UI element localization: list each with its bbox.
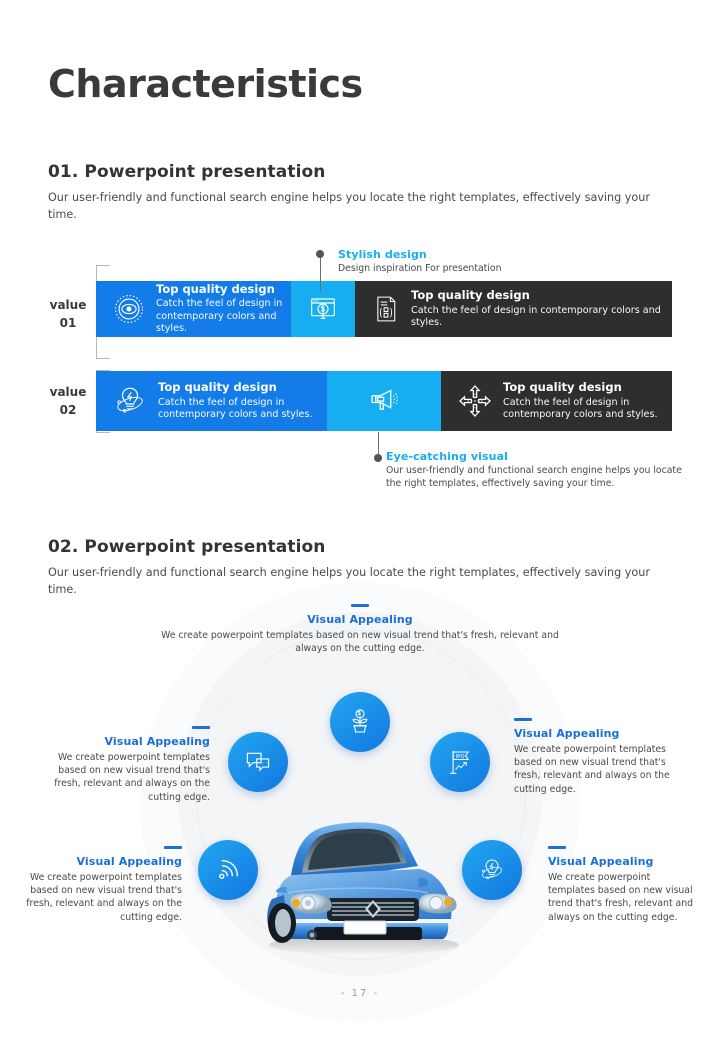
bar-segment-dark-1[interactable]: Top quality design Catch the feel of des… [355, 281, 672, 337]
bar-text-1-right: Top quality design Catch the feel of des… [411, 288, 672, 329]
page-title: Characteristics [48, 62, 363, 106]
callout-desc-bottom: Our user-friendly and functional search … [386, 465, 696, 490]
value-label-02-word: value [40, 383, 96, 401]
callout-dot-bottom [374, 454, 382, 462]
page-number: - 17 - [0, 988, 720, 999]
label-visual-appealing-bottom-left: Visual Appealing We create powerpoint te… [22, 846, 182, 924]
bar-segment-blue-2[interactable]: Top quality design Catch the feel of des… [96, 371, 327, 431]
bar-segment-cyan-1[interactable] [291, 281, 355, 337]
bar-text-1: Top quality design Catch the feel of des… [156, 282, 291, 336]
callout-desc-top: Design inspiration For presentation [338, 263, 668, 276]
bar-row-02: Top quality design Catch the feel of des… [96, 371, 672, 431]
callout-text-bottom: Eye-catching visual Our user-friendly an… [386, 450, 696, 490]
money-plant-icon [345, 707, 375, 737]
node-wifi-signal[interactable] [198, 840, 258, 900]
value-label-02: value 02 [40, 383, 96, 419]
node-chat-bubbles[interactable] [228, 732, 288, 792]
label-dash-left [192, 726, 210, 729]
callout-title-top: Stylish design [338, 248, 668, 261]
blue-car-photo [236, 795, 492, 955]
value-label-01-word: value [40, 296, 96, 314]
ipo-flag-icon: IPO [445, 747, 475, 777]
presentation-dollar-icon [307, 293, 339, 325]
bracket-top-1 [96, 265, 110, 267]
callout-stem-bottom [378, 432, 379, 454]
value-label-01: value 01 [40, 296, 96, 332]
slide-canvas: Characteristics 01. Powerpoint presentat… [0, 0, 720, 1040]
label-visual-appealing-bottom-right: Visual Appealing We create powerpoint te… [548, 846, 698, 924]
label-visual-appealing-right: Visual Appealing We create powerpoint te… [514, 718, 694, 796]
svg-text:IPO: IPO [456, 754, 465, 760]
label-title-right: Visual Appealing [514, 727, 694, 740]
label-title-bottom-left: Visual Appealing [22, 855, 182, 868]
callout-text-top: Stylish design Design inspiration For pr… [338, 248, 668, 276]
node-lightbulb-idea[interactable] [462, 840, 522, 900]
label-title-bottom-right: Visual Appealing [548, 855, 698, 868]
bar-title-1: Top quality design [156, 282, 291, 296]
value-label-01-number: 01 [40, 314, 96, 332]
label-desc-right: We create powerpoint templates based on … [514, 743, 694, 796]
wifi-signal-icon [213, 855, 243, 885]
lightbulb-idea-icon [112, 383, 148, 419]
node-ipo-flag[interactable]: IPO [430, 732, 490, 792]
bar-title-1-right: Top quality design [411, 288, 672, 302]
section-1-body: Our user-friendly and functional search … [48, 189, 678, 224]
bar-text-2: Top quality design Catch the feel of des… [158, 380, 327, 421]
lightbulb-idea-icon [477, 855, 507, 885]
section-1-heading: 01. Powerpoint presentation [48, 162, 325, 182]
value-label-02-number: 02 [40, 401, 96, 419]
bar-desc-1-right: Catch the feel of design in contemporary… [411, 305, 672, 330]
bar-desc-2: Catch the feel of design in contemporary… [158, 397, 327, 422]
bracket-bottom-2 [96, 432, 110, 434]
bar-desc-2-right: Catch the feel of design in contemporary… [503, 397, 672, 422]
label-desc-top: We create powerpoint templates based on … [160, 629, 560, 655]
circle-diagram: IPO [0, 600, 720, 1020]
bar-segment-dark-2[interactable]: Top quality design Catch the feel of des… [441, 371, 672, 431]
label-visual-appealing-top: Visual Appealing We create powerpoint te… [160, 604, 560, 655]
document-checklist-icon [371, 294, 401, 324]
four-arrows-expand-icon [457, 383, 493, 419]
label-title-top: Visual Appealing [160, 613, 560, 626]
node-money-plant[interactable] [330, 692, 390, 752]
callout-title-bottom: Eye-catching visual [386, 450, 696, 463]
bar-title-2-right: Top quality design [503, 380, 672, 394]
label-dash-top [351, 604, 369, 607]
bar-row-01: Top quality design Catch the feel of des… [96, 281, 672, 337]
bar-segment-blue-1[interactable]: Top quality design Catch the feel of des… [96, 281, 291, 337]
callout-dot-top [316, 250, 324, 258]
label-title-left: Visual Appealing [30, 735, 210, 748]
label-dash-bottom-left [164, 846, 182, 849]
label-dash-right [514, 718, 532, 721]
label-visual-appealing-left: Visual Appealing We create powerpoint te… [30, 726, 210, 804]
label-desc-bottom-right: We create powerpoint templates based on … [548, 871, 698, 924]
callout-stem-top [320, 258, 321, 292]
eye-target-icon [112, 292, 146, 326]
megaphone-icon [366, 383, 402, 419]
section-2-heading: 02. Powerpoint presentation [48, 537, 325, 557]
bar-title-2: Top quality design [158, 380, 327, 394]
label-desc-left: We create powerpoint templates based on … [30, 751, 210, 804]
label-desc-bottom-left: We create powerpoint templates based on … [22, 871, 182, 924]
bracket-bottom-1 [96, 358, 110, 360]
bar-segment-cyan-2[interactable] [327, 371, 441, 431]
bar-desc-1: Catch the feel of design in contemporary… [156, 298, 291, 335]
bar-text-2-right: Top quality design Catch the feel of des… [503, 380, 672, 421]
chat-bubbles-icon [243, 747, 273, 777]
label-dash-bottom-right [548, 846, 566, 849]
